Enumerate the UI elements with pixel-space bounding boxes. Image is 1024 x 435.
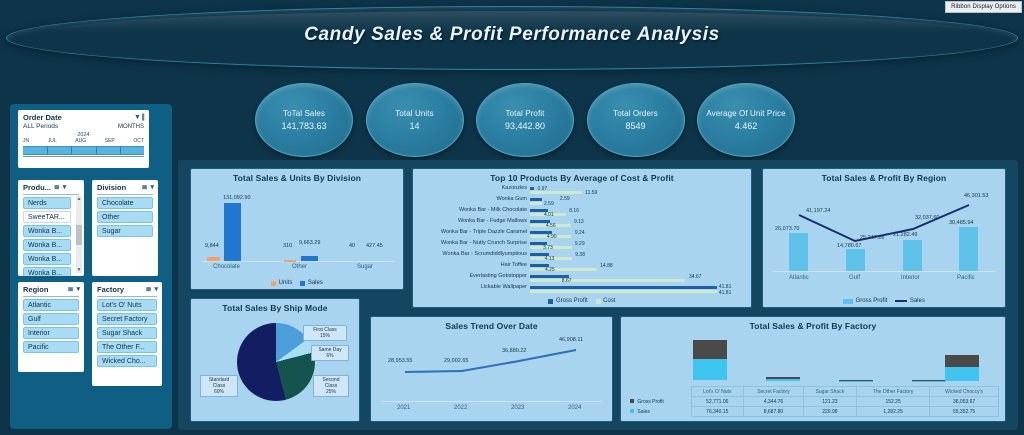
date-tick-labels: JN JUL AUG SEP OCT <box>18 138 149 144</box>
bar-value-cost-2: 8.16 <box>569 208 579 214</box>
kpi-total-profit-label: Total Profit <box>506 109 545 119</box>
pie-pct-same-day: 6% <box>314 353 346 359</box>
bar-value-gp-3: 4.56 <box>546 223 556 229</box>
x-axis-line <box>201 261 395 262</box>
bar-value-gp-interior: 21,282.49 <box>893 232 917 238</box>
kpi-total-units-value: 14 <box>409 120 419 132</box>
slicer-division-header: Division ≣ ▾ <box>92 180 158 193</box>
bar-sales-other[interactable] <box>301 256 318 261</box>
y-tick-5: Wonka Bar - Nutty Crunch Surprise <box>441 241 527 246</box>
bar-label-sales-0: 131,092.90 <box>223 195 251 201</box>
bar-segment-sales <box>912 381 946 382</box>
bar-segment-sales <box>766 379 800 381</box>
slicer-factory[interactable]: Factory ≣ ▾ Lot's O' Nuts Secret Factory… <box>92 282 162 386</box>
kpi-total-sales[interactable]: ToTal Sales 141,783.63 <box>255 83 353 157</box>
plot-area: Kazoozles 0.97 11.59 Wonka Gum 2.59 2.59… <box>530 186 717 296</box>
bar-value-gp-pacific: 30,485.94 <box>949 220 973 226</box>
point-value-2024: 46,908.11 <box>559 337 583 343</box>
bar-group-9[interactable]: Lickable Wallpaper 41.81 41.81 <box>530 285 717 296</box>
point-value-2021: 28,953.55 <box>388 358 412 364</box>
pie-callout-standard-class: Standard Class 60% <box>200 375 238 397</box>
date-tick-0: JN <box>23 138 29 144</box>
bar-label-sales-1: 9,663.29 <box>299 240 320 246</box>
legend-swatch-sales <box>300 281 305 286</box>
bar-label-units-1: 310 <box>283 243 292 249</box>
legend-item-gross-profit[interactable]: Gross Profit <box>548 298 587 304</box>
bar-group-3[interactable]: Wonka Bar - Fudge Mallows 4.56 9.13 <box>530 219 717 230</box>
slicer-product-item-4[interactable]: Wonka B... <box>23 253 71 265</box>
bar-value-gp-8: 8.67 <box>562 278 572 284</box>
bar-value-gp-7: 4.25 <box>545 267 555 273</box>
cell-sales-2: 220.98 <box>803 407 856 417</box>
pie-callout-same-day: Same Day 6% <box>311 345 349 361</box>
slicer-factory-header: Factory ≣ ▾ <box>92 282 162 295</box>
bar-group-4[interactable]: Wonka Bar - Triple Dazzle Caramel 4.90 9… <box>530 230 717 241</box>
x-tick-1: Other <box>292 264 307 270</box>
factory-data-table: Lot's O' Nuts Secret Factory Sugar Shack… <box>629 386 999 417</box>
pie-pct-standard-class: 60% <box>203 389 235 395</box>
kpi-total-sales-value: 141,783.63 <box>281 120 326 132</box>
line-value-sales-interior: 32,037.60 <box>915 215 939 221</box>
bar-group-5[interactable]: Wonka Bar - Nutty Crunch Surprise 3.73 9… <box>530 241 717 252</box>
legend-swatch-sales <box>895 300 907 302</box>
bar-cost-9[interactable] <box>530 290 717 293</box>
chart-legend: Gross Profit Cost <box>413 298 751 304</box>
chart-total-sales-units-by-division[interactable]: Total Sales & Units By Division 9,844 13… <box>190 168 404 290</box>
slicer-factory-item-2[interactable]: Sugar Shack <box>97 327 157 339</box>
legend-item-cost[interactable]: Cost <box>596 298 616 304</box>
bar-units-other[interactable] <box>284 260 296 262</box>
chart-legend: Gross Profit Sales <box>763 298 1005 304</box>
legend-swatch-sales <box>630 409 634 413</box>
filter-rail: Order Date ▼ ∥ ALL Periods MONTHS 2024 J… <box>10 104 172 429</box>
kpi-total-orders[interactable]: Total Orders 8549 <box>587 83 685 157</box>
bar-group-2[interactable]: Wonka Bar - Milk Chocolate 4.01 8.16 <box>530 208 717 219</box>
bar-group-1[interactable]: Wonka Gum 2.59 2.59 <box>530 197 717 208</box>
pie-label-second-class: Second Class <box>316 377 346 389</box>
bar-segment-gross-profit <box>945 355 979 367</box>
table-col-header-0: Lot's O' Nuts <box>691 387 744 397</box>
bar-cost-7[interactable] <box>530 268 597 271</box>
bar-value-gp-2: 4.01 <box>544 212 554 218</box>
x-tick-1: 2022 <box>454 405 467 411</box>
dashboard-header-banner: Candy Sales & Profit Performance Analysi… <box>6 6 1018 70</box>
sort-icon[interactable]: ≣ <box>54 184 60 191</box>
table-row: Gross Profit 52,771.06 4,344.76 121.23 1… <box>629 397 999 407</box>
x-tick-2: 2023 <box>511 405 524 411</box>
kpi-avg-unit-price-label: Average Of Unit Price <box>706 109 785 119</box>
date-tick-1: JUL <box>48 138 57 144</box>
bar-value-gp-atlantic: 26,073.70 <box>775 226 799 232</box>
bar-segment-sales <box>693 359 727 380</box>
slicer-division-item-1[interactable]: Other <box>97 211 153 223</box>
cell-gp-1: 4,344.76 <box>744 397 804 407</box>
kpi-total-sales-label: ToTal Sales <box>283 109 325 119</box>
bar-value-cost-8: 34.67 <box>689 274 702 280</box>
pie-callout-first-class: First Class 15% <box>303 325 347 341</box>
chevron-up-icon[interactable]: ▲ <box>76 196 82 202</box>
table-header-row: Lot's O' Nuts Secret Factory Sugar Shack… <box>629 387 999 397</box>
y-tick-9: Lickable Wallpaper <box>481 285 527 290</box>
pie-callout-second-class: Second Class 25% <box>313 375 349 397</box>
page-title: Candy Sales & Profit Performance Analysi… <box>7 24 1017 46</box>
y-tick-3: Wonka Bar - Fudge Mallows <box>458 219 527 224</box>
slicer-factory-item-0[interactable]: Lot's O' Nuts <box>97 299 157 311</box>
slicer-order-date[interactable]: Order Date ▼ ∥ ALL Periods MONTHS 2024 J… <box>18 110 149 168</box>
x-tick-2: Sugar <box>357 264 373 270</box>
filter-icon[interactable]: ▼ ∥ <box>134 114 145 121</box>
cell-sales-3: 1,282.25 <box>856 407 929 417</box>
bar-sales-chocolate[interactable] <box>224 203 241 261</box>
legend-item-gross-profit[interactable]: Gross Profit <box>843 298 887 304</box>
chart-legend: Units Sales <box>191 280 403 286</box>
chart-title: Total Sales By Ship Mode <box>191 299 359 313</box>
point-value-2023: 36,880.22 <box>502 348 526 354</box>
divider <box>23 296 79 297</box>
chart-sales-trend-over-date[interactable]: Sales Trend Over Date 28,953.55 29,002.6… <box>370 316 613 422</box>
table-col-header-2: Sugar Shack <box>803 387 856 397</box>
cell-sales-1: 8,687.80 <box>744 407 804 417</box>
divider <box>97 296 157 297</box>
divider <box>23 194 79 195</box>
bar-value-cost-1: 2.59 <box>560 196 570 202</box>
table-row-header-gross-profit: Gross Profit <box>637 399 663 405</box>
bar-label-units-0: 9,844 <box>205 243 219 249</box>
legend-item-units[interactable]: Units <box>271 280 292 286</box>
line-value-sales-gulf: 25,247.26 <box>860 235 884 241</box>
legend-label-gross-profit: Gross Profit <box>556 298 588 304</box>
slicer-product-item-0[interactable]: Nerds <box>23 197 71 209</box>
pie-pct-second-class: 25% <box>316 389 346 395</box>
kpi-total-profit[interactable]: Total Profit 93,442.80 <box>476 83 574 157</box>
chart-total-sales-profit-by-region[interactable]: Total Sales & Profit By Region 26,073.70… <box>762 168 1006 308</box>
bar-value-gp-6: 4.13 <box>545 256 555 262</box>
date-axis-line <box>23 156 144 157</box>
slicer-division-item-2[interactable]: Sugar <box>97 225 153 237</box>
cell-sales-0: 76,340.15 <box>691 407 744 417</box>
y-tick-0: Kazoozles <box>502 186 527 191</box>
slicer-factory-item-3[interactable]: The Other F... <box>97 341 157 353</box>
bar-stack-secret-factory[interactable] <box>766 377 800 381</box>
date-range-slider[interactable] <box>23 146 144 155</box>
y-tick-6: Wonka Bar - Scrumdiddlyumptious <box>442 252 527 257</box>
slicer-factory-item-1[interactable]: Secret Factory <box>97 313 157 325</box>
cell-gp-4: 36,053.67 <box>930 397 999 407</box>
table-col-header-1: Secret Factory <box>744 387 804 397</box>
slicer-factory-title: Factory <box>97 285 124 294</box>
legend-label-sales: Sales <box>308 280 323 286</box>
legend-swatch-gross-profit <box>630 399 634 403</box>
x-tick-2: Interior <box>901 275 920 281</box>
table-row: Sales 76,340.15 8,687.80 220.98 1,282.25… <box>629 407 999 417</box>
slicer-order-date-title: Order Date <box>23 113 62 122</box>
kpi-row: ToTal Sales 141,783.63 Total Units 14 To… <box>255 82 795 158</box>
sales-line-series[interactable] <box>763 169 1007 309</box>
bar-value-cost-6: 9.38 <box>575 252 585 258</box>
x-tick-1: Gulf <box>849 275 860 281</box>
filter-icon[interactable]: ▾ <box>154 286 158 293</box>
bar-value-gp-1: 2.59 <box>544 201 554 207</box>
bar-group-8[interactable]: Everlasting Gobstopper 8.67 34.67 <box>530 274 717 285</box>
bar-stack-sugar-shack[interactable] <box>839 380 873 381</box>
chart-total-sales-profit-by-factory[interactable]: Total Sales & Profit By Factory <box>620 316 1006 422</box>
bar-group-0[interactable]: Kazoozles 0.97 11.59 <box>530 186 717 197</box>
scrollbar-thumb[interactable] <box>76 225 82 245</box>
bar-value-gp-gulf: 14,780.67 <box>837 243 861 249</box>
bar-label-units-2: 40 <box>349 243 355 249</box>
bar-gross-profit-1[interactable] <box>530 198 542 201</box>
slicer-product-item-5[interactable]: Wonka B... <box>23 267 71 276</box>
legend-label-cost: Cost <box>603 298 615 304</box>
slicer-product-item-2[interactable]: Wonka B... <box>23 225 71 237</box>
chart-total-sales-by-ship-mode[interactable]: Total Sales By Ship Mode First Class 15%… <box>190 298 360 422</box>
legend-label-gross-profit: Gross Profit <box>856 298 888 304</box>
slicer-region-item-0[interactable]: Atlantic <box>23 299 79 311</box>
bar-cost-1[interactable] <box>530 202 542 205</box>
kpi-avg-unit-price-value: 4.462 <box>735 120 758 132</box>
date-granularity-dropdown[interactable]: MONTHS <box>118 124 144 130</box>
chart-title: Top 10 Products By Average of Cost & Pro… <box>413 169 751 183</box>
slicer-product-header: Produ... ≣ ▾ <box>18 180 84 193</box>
line-value-sales-pacific: 46,301.53 <box>964 193 988 199</box>
table-col-header-3: The Other Factory <box>856 387 929 397</box>
bar-value-cost-5: 9.29 <box>575 241 585 247</box>
chart-top10-products-by-avg-cost-profit[interactable]: Top 10 Products By Average of Cost & Pro… <box>412 168 752 308</box>
bar-value-cost-9: 41.81 <box>719 290 732 296</box>
pie-label-standard-class: Standard Class <box>203 377 235 389</box>
y-tick-2: Wonka Bar - Milk Chocolate <box>459 208 527 213</box>
filter-icon[interactable]: ▾ <box>63 184 67 191</box>
table-col-header-4: Wicked Choccy's <box>930 387 999 397</box>
bar-group-6[interactable]: Wonka Bar - Scrumdiddlyumptious 4.13 9.3… <box>530 252 717 263</box>
cell-gp-0: 52,771.06 <box>691 397 744 407</box>
bar-stack-the-other-factory[interactable] <box>912 380 946 381</box>
kpi-total-profit-value: 93,442.80 <box>505 120 545 132</box>
legend-swatch-cost <box>596 299 601 304</box>
cell-sales-4: 55,352.75 <box>930 407 999 417</box>
slicer-division-title: Division <box>97 183 126 192</box>
bar-stack-lots-o-nuts[interactable] <box>693 340 727 380</box>
slicer-factory-item-4[interactable]: Wicked Cho... <box>97 355 157 367</box>
slicer-region-item-1[interactable]: Gulf <box>23 313 79 325</box>
kpi-total-units[interactable]: Total Units 14 <box>366 83 464 157</box>
bar-value-cost-0: 11.59 <box>585 190 597 196</box>
line-value-sales-atlantic: 41,197.24 <box>806 208 830 214</box>
date-range-row: ALL Periods MONTHS <box>18 123 149 130</box>
bar-gross-profit-9[interactable] <box>530 286 717 289</box>
bar-value-cost-3: 9.13 <box>574 219 584 225</box>
slicer-product[interactable]: Produ... ≣ ▾ Nerds SweeTAR... Wonka B...… <box>18 180 84 276</box>
bar-segment-gross-profit <box>693 340 727 359</box>
divider <box>97 194 153 195</box>
slicer-region-title: Region <box>23 285 48 294</box>
legend-swatch-gross-profit <box>548 299 553 304</box>
dashboard-root: Ribbon Display Options Candy Sales & Pro… <box>0 0 1024 435</box>
legend-swatch-units <box>271 281 276 286</box>
legend-item-sales[interactable]: Sales <box>895 298 925 304</box>
bar-units-chocolate[interactable] <box>207 257 220 261</box>
cell-gp-3: 152.25 <box>856 397 929 407</box>
ribbon-display-options-tooltip: Ribbon Display Options <box>945 1 1022 13</box>
chevron-down-icon[interactable]: ▼ <box>76 267 82 273</box>
cell-gp-2: 121.23 <box>803 397 856 407</box>
slicer-product-title: Produ... <box>23 183 51 192</box>
legend-label-sales: Sales <box>910 298 925 304</box>
slicer-product-scrollbar[interactable]: ▲ ▼ <box>76 196 82 273</box>
y-tick-4: Wonka Bar - Triple Dazzle Caramel <box>441 230 527 235</box>
slicer-product-item-1[interactable]: SweeTAR... <box>23 211 71 223</box>
bar-group-7[interactable]: Hair Toffee 4.25 14.88 <box>530 263 717 274</box>
slicer-region-item-2[interactable]: Interior <box>23 327 79 339</box>
bar-stack-wicked-choccys[interactable] <box>945 355 979 381</box>
slicer-order-date-header: Order Date ▼ ∥ <box>18 110 149 123</box>
y-tick-7: Hair Toffee <box>501 263 527 268</box>
bar-value-gp-4: 4.90 <box>547 234 557 240</box>
x-tick-3: 2024 <box>568 405 581 411</box>
sort-icon[interactable]: ≣ <box>68 286 74 293</box>
slicer-region[interactable]: Region ≣ ▾ Atlantic Gulf Interior Pacifi… <box>18 282 84 372</box>
date-tick-2: AUG <box>75 138 86 144</box>
pie-pct-first-class: 15% <box>306 333 344 339</box>
bar-cost-0[interactable] <box>530 191 582 194</box>
kpi-total-orders-value: 8549 <box>625 120 645 132</box>
bar-segment-sales <box>945 367 979 381</box>
kpi-total-units-label: Total Units <box>395 109 433 119</box>
y-tick-1: Wonka Gum <box>497 197 527 202</box>
y-tick-8: Everlasting Gobstopper <box>470 274 527 279</box>
date-period-label: ALL Periods <box>23 123 58 130</box>
slicer-region-item-3[interactable]: Pacific <box>23 341 79 353</box>
chart-title: Total Sales & Units By Division <box>191 169 403 183</box>
bar-cost-8[interactable] <box>530 279 685 282</box>
legend-item-sales[interactable]: Sales <box>300 280 323 286</box>
filter-icon[interactable]: ▾ <box>76 286 80 293</box>
slicer-product-item-3[interactable]: Wonka B... <box>23 239 71 251</box>
bar-label-sales-2: 427.45 <box>366 243 383 249</box>
sort-icon[interactable]: ≣ <box>146 286 152 293</box>
legend-swatch-gross-profit <box>843 299 853 304</box>
filter-icon[interactable]: ▾ <box>150 184 154 191</box>
date-tick-4: OCT <box>133 138 144 144</box>
kpi-total-orders-label: Total Orders <box>613 109 658 119</box>
chart-title: Total Sales & Profit By Factory <box>621 317 1005 331</box>
kpi-avg-unit-price[interactable]: Average Of Unit Price 4.462 <box>697 83 795 157</box>
slicer-division-item-0[interactable]: Chocolate <box>97 197 153 209</box>
bar-segment-sales <box>839 381 873 382</box>
bar-value-gp-5: 3.73 <box>543 245 553 251</box>
point-value-2022: 29,002.65 <box>444 358 468 364</box>
x-tick-0: 2021 <box>397 405 410 411</box>
bar-value-cost-7: 14.88 <box>600 263 613 269</box>
slicer-region-header: Region ≣ ▾ <box>18 282 84 295</box>
date-tick-3: SEP <box>105 138 115 144</box>
bar-value-cost-4: 9.24 <box>575 230 585 236</box>
x-tick-3: Pacific <box>957 275 975 281</box>
legend-label-units: Units <box>279 280 293 286</box>
x-tick-0: Atlantic <box>789 275 809 281</box>
bar-gross-profit-0[interactable] <box>530 187 534 190</box>
slicer-division[interactable]: Division ≣ ▾ Chocolate Other Sugar <box>92 180 158 276</box>
sort-icon[interactable]: ≣ <box>142 184 148 191</box>
table-row-header-sales: Sales <box>637 409 650 415</box>
x-tick-0: Chocolate <box>213 264 240 270</box>
